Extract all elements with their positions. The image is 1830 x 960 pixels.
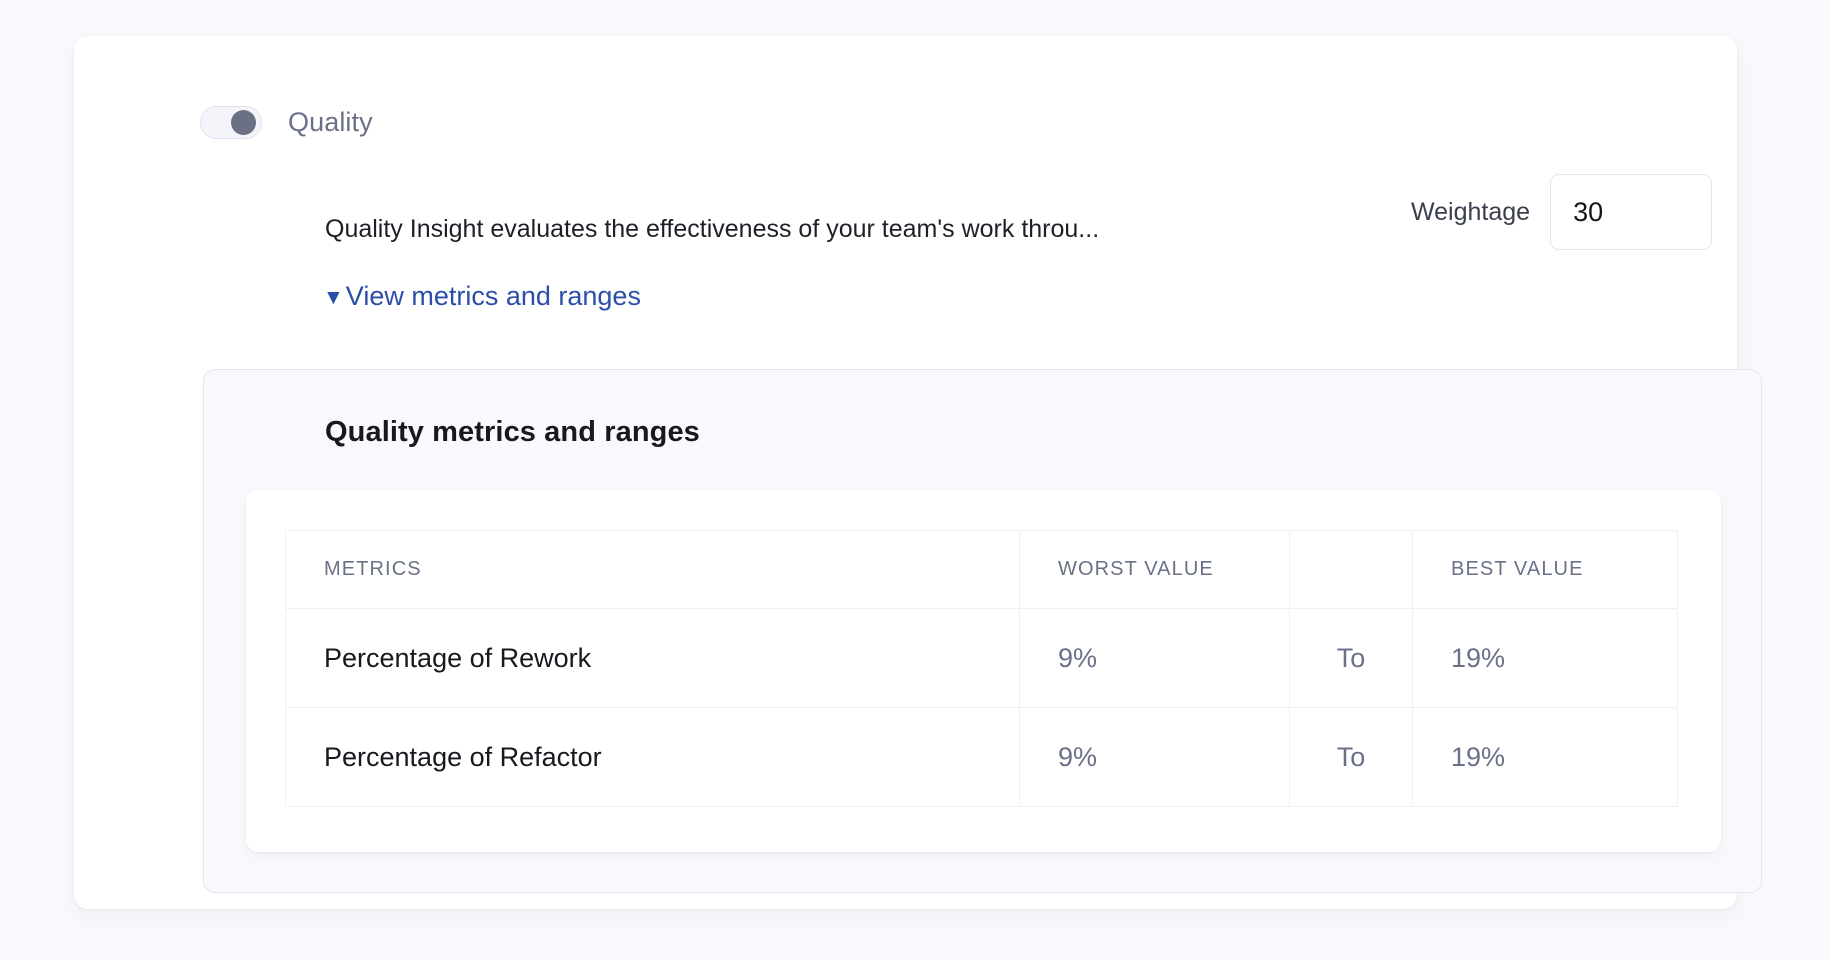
table-header-row: METRICS WORST VALUE BEST VALUE <box>286 531 1678 609</box>
cell-best-value: 19% <box>1413 609 1678 708</box>
cell-worst-value: 9% <box>1020 708 1290 807</box>
column-header-metrics: METRICS <box>286 531 1020 609</box>
cell-metric-name: Percentage of Rework <box>286 609 1020 708</box>
table-row: Percentage of Rework 9% To 19% <box>286 609 1678 708</box>
cell-metric-name: Percentage of Refactor <box>286 708 1020 807</box>
weightage-group: Weightage <box>1411 174 1712 250</box>
column-header-best-value: BEST VALUE <box>1413 531 1678 609</box>
page-root: Quality Quality Insight evaluates the ef… <box>0 0 1830 960</box>
cell-best-value: 19% <box>1413 708 1678 807</box>
view-metrics-label: View metrics and ranges <box>346 281 641 312</box>
weightage-input[interactable] <box>1550 174 1712 250</box>
weightage-label: Weightage <box>1411 198 1530 227</box>
metrics-table: METRICS WORST VALUE BEST VALUE Percentag… <box>285 530 1678 807</box>
metrics-table-head: METRICS WORST VALUE BEST VALUE <box>286 531 1678 609</box>
cell-separator: To <box>1290 708 1413 807</box>
insight-header-row: Quality <box>200 106 373 139</box>
insight-card: Quality Quality Insight evaluates the ef… <box>74 36 1737 909</box>
metrics-panel-heading: Quality metrics and ranges <box>325 416 700 449</box>
cell-separator: To <box>1290 609 1413 708</box>
quality-insight-toggle[interactable] <box>200 106 262 139</box>
column-header-worst-value: WORST VALUE <box>1020 531 1290 609</box>
view-metrics-toggle-link[interactable]: ▼ View metrics and ranges <box>323 281 641 312</box>
insight-title: Quality <box>288 109 373 136</box>
cell-worst-value: 9% <box>1020 609 1290 708</box>
toggle-knob <box>231 110 256 135</box>
chevron-down-icon: ▼ <box>323 287 344 308</box>
metrics-table-body: Percentage of Rework 9% To 19% Percentag… <box>286 609 1678 807</box>
table-row: Percentage of Refactor 9% To 19% <box>286 708 1678 807</box>
insight-description: Quality Insight evaluates the effectiven… <box>325 214 1390 245</box>
column-header-separator <box>1290 531 1413 609</box>
